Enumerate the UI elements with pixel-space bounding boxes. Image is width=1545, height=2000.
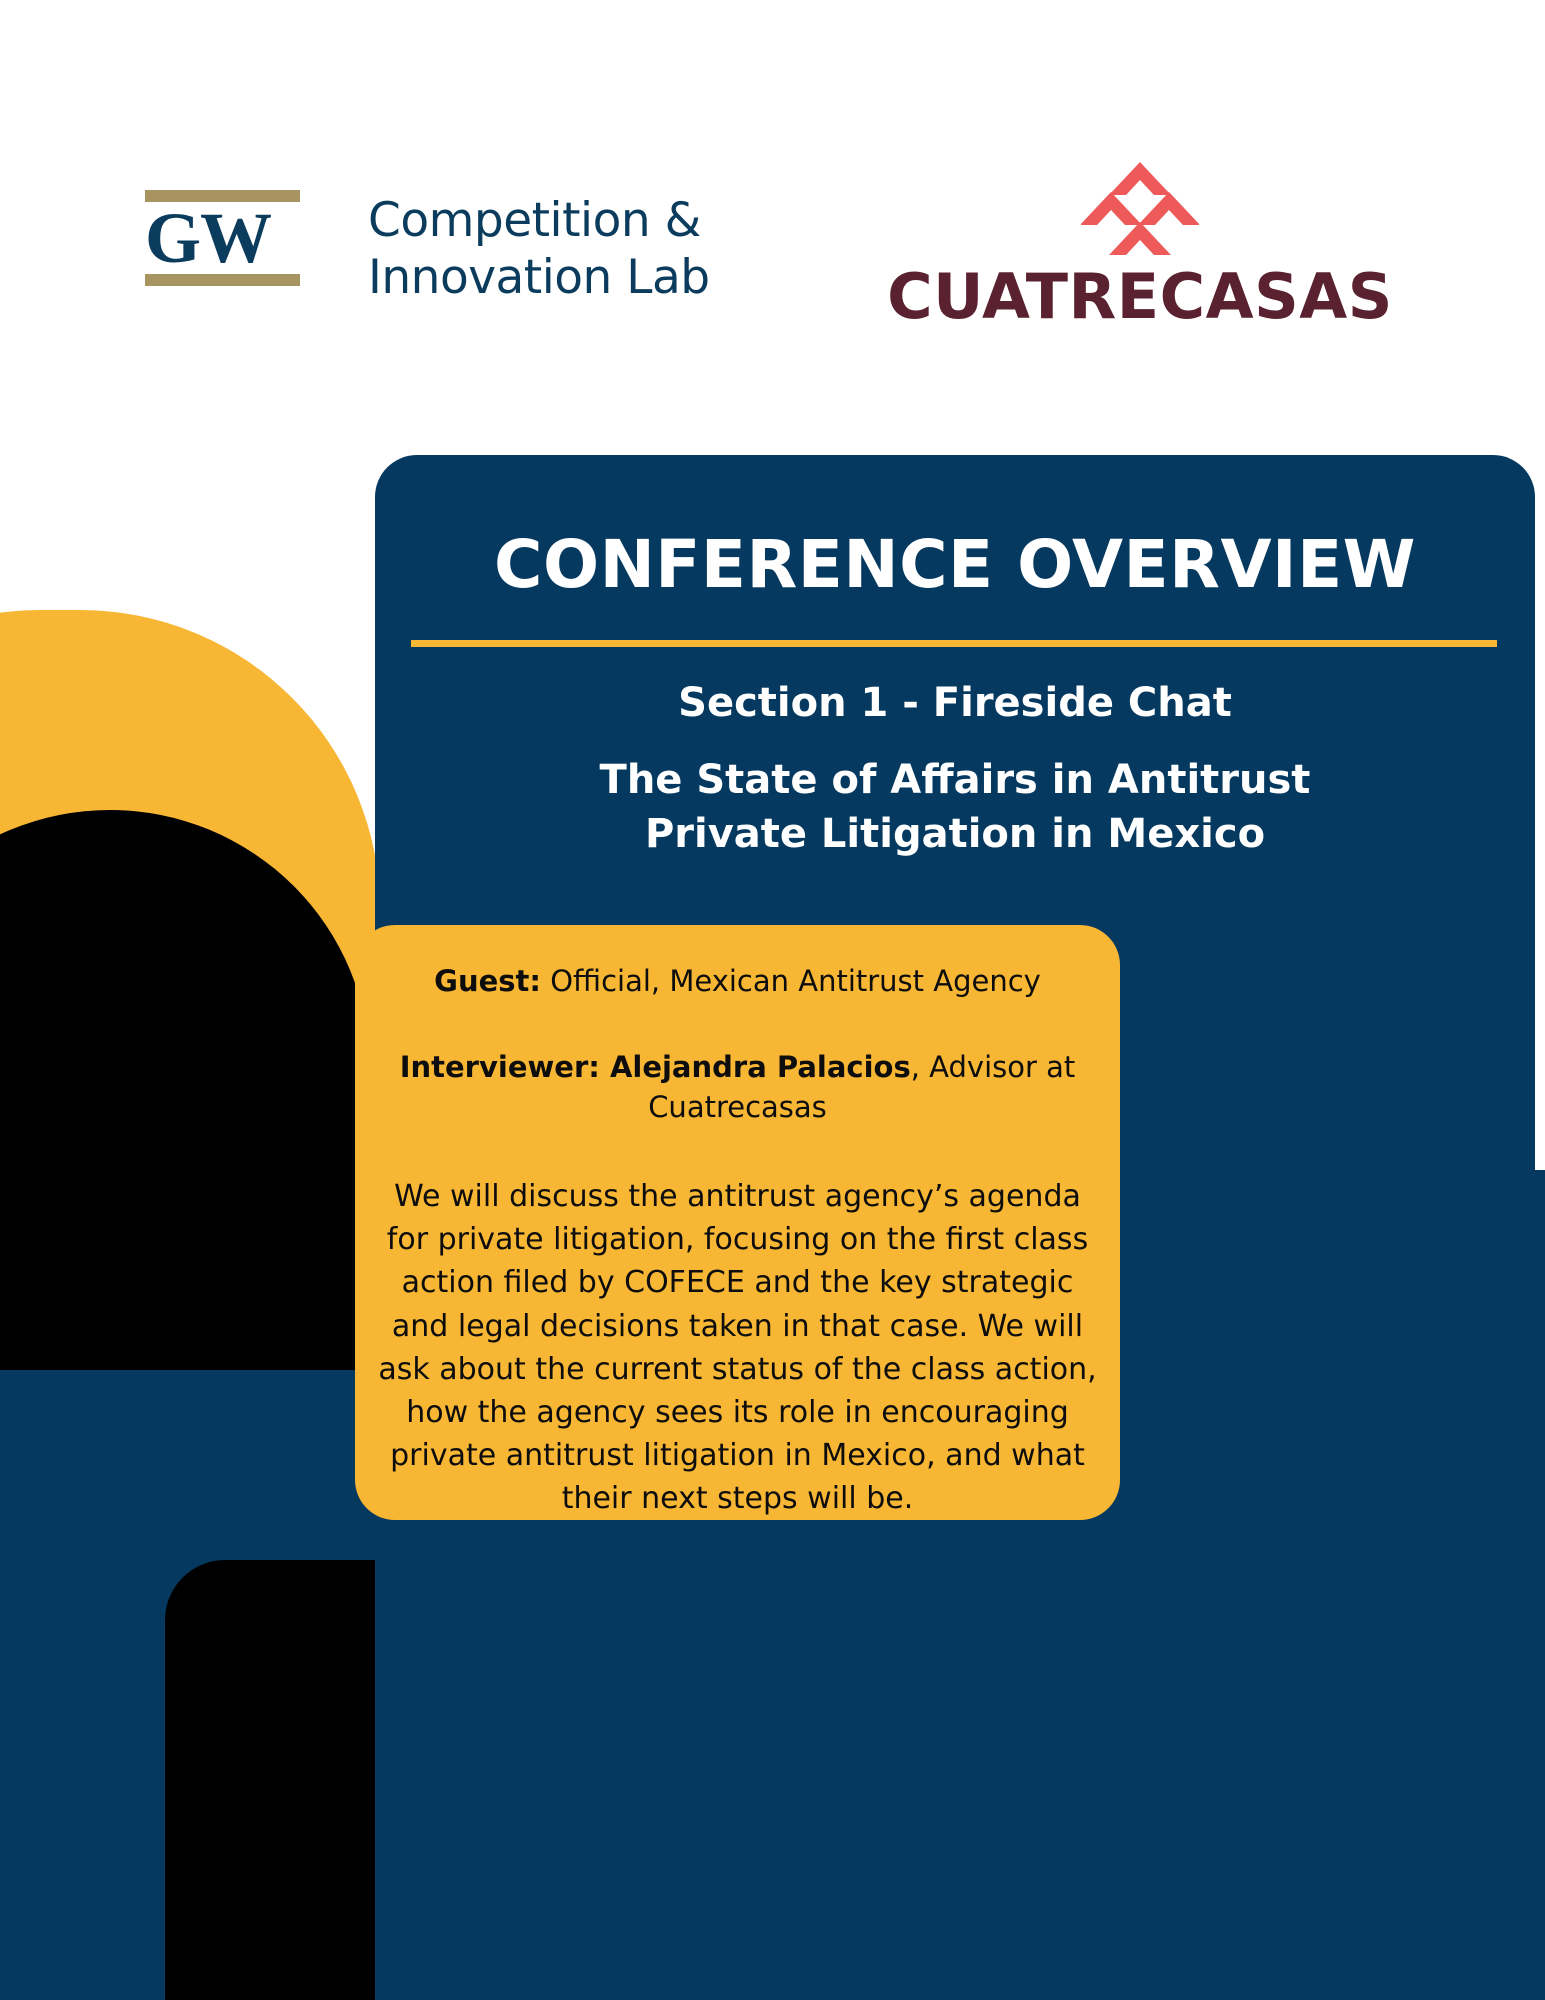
gw-logo-letters: GW — [145, 202, 300, 272]
session-description: We will discuss the antitrust agency’s a… — [355, 1175, 1120, 1521]
guest-label: Guest: — [434, 964, 541, 998]
section-label: Section 1 - Fireside Chat — [375, 677, 1535, 729]
lab-name: Competition & Innovation Lab — [368, 192, 710, 307]
title-divider — [411, 640, 1497, 647]
guest-line: Guest: Official, Mexican Antitrust Agenc… — [355, 961, 1120, 1001]
session-details-card: Guest: Official, Mexican Antitrust Agenc… — [355, 925, 1120, 1520]
interviewer-label: Interviewer: Alejandra Palacios — [400, 1050, 911, 1084]
section-title: The State of Affairs in Antitrust Privat… — [465, 753, 1445, 861]
poster-canvas: GW Competition & Innovation Lab CUATRECA… — [0, 0, 1545, 2000]
header: GW Competition & Innovation Lab CUATRECA… — [0, 0, 1545, 420]
cuatrecasas-chevron-mark-icon — [1081, 160, 1199, 260]
guest-value: Official, Mexican Antitrust Agency — [541, 964, 1041, 998]
page-title: CONFERENCE OVERVIEW — [375, 530, 1535, 599]
gw-logo: GW — [145, 190, 300, 286]
cuatrecasas-wordmark: CUATRECASAS — [880, 266, 1400, 328]
cuatrecasas-logo: CUATRECASAS — [880, 160, 1400, 328]
black-decorative-band — [0, 1100, 370, 1220]
interviewer-line: Interviewer: Alejandra Palacios, Advisor… — [355, 1047, 1120, 1127]
